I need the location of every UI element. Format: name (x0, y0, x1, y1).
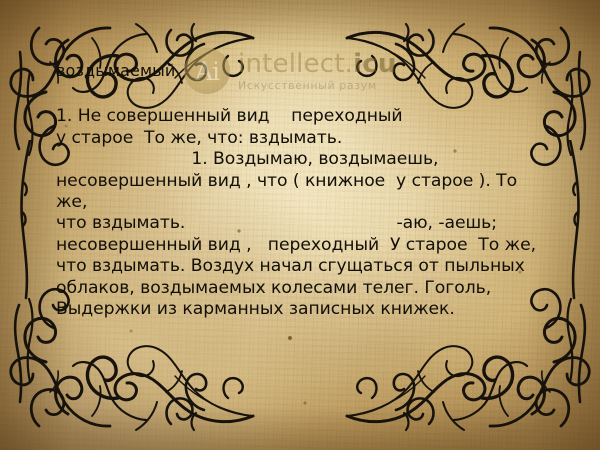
definition-line: 1. Воздымаю, воздымаешь, (56, 149, 548, 170)
definition-line: что вздымать. Воздух начал сгущаться от … (56, 256, 548, 277)
headword: воздымаемый (56, 62, 548, 80)
definition-line: несовершенный вид , что ( книжное у стар… (56, 171, 548, 214)
definition-line: у старое То же, что: вздымать. (56, 128, 548, 149)
definition-line: несовершенный вид , переходный У старое … (56, 235, 548, 256)
definition-line: что вздымать. -аю, -аешь; (56, 213, 548, 234)
dictionary-entry: воздымаемый 1. Не совершенный вид перехо… (56, 62, 548, 320)
definition-line: Выдержки из карманных записных книжек. (56, 299, 548, 320)
dictionary-card: Ai intellect.icu Искусственный разум воз… (0, 0, 600, 450)
definition-line: облаков, воздымаемых колесами телег. Гог… (56, 278, 548, 299)
definition-line: 1. Не совершенный вид переходный (56, 106, 548, 127)
definition-block: 1. Не совершенный вид переходныйу старое… (56, 106, 548, 320)
